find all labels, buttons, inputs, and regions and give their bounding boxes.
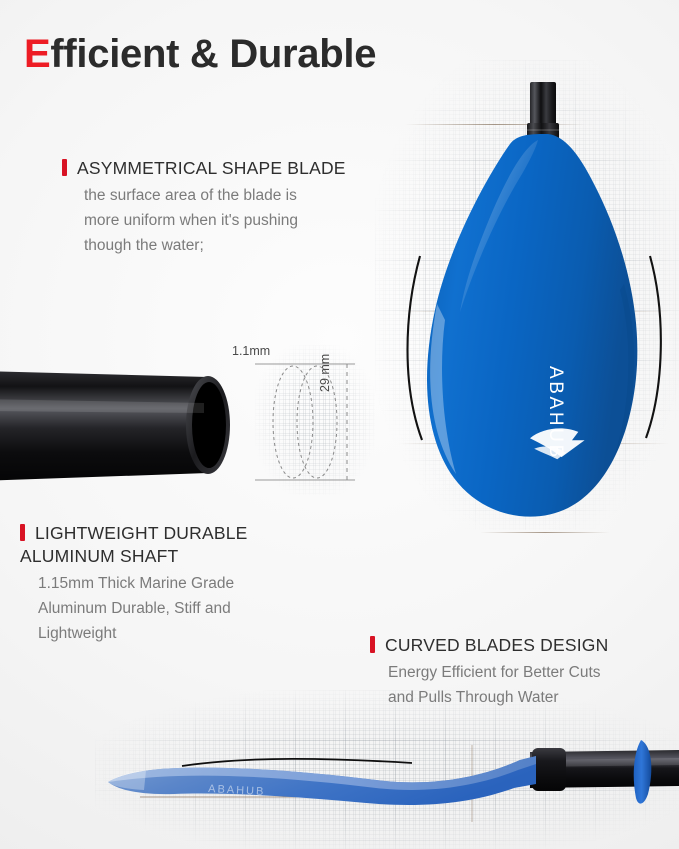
feature-asymmetrical-shape-blade: ASYMMETRICAL SHAPE BLADE the surface are… xyxy=(62,157,392,258)
feature-body: 1.15mm Thick Marine Grade Aluminum Durab… xyxy=(38,571,340,646)
aluminum-tube-illustration xyxy=(0,355,260,495)
red-bar-marker xyxy=(20,524,25,541)
drip-ring-fin xyxy=(634,740,652,804)
blade-body xyxy=(427,134,637,517)
feature-curved-blades-design: CURVED BLADES DESIGN Energy Efficient fo… xyxy=(370,634,670,710)
paddle-shaft-top xyxy=(530,82,556,128)
curvature-line-right xyxy=(646,256,661,438)
brand-wordmark-profile: ABAHUB xyxy=(208,783,266,798)
blade-curvature-arc xyxy=(182,759,412,766)
tube-cross-section-diagram xyxy=(255,352,365,492)
blade-shape-svg: ABAHUB xyxy=(398,134,668,534)
feature-heading: ASYMMETRICAL SHAPE BLADE xyxy=(62,157,392,180)
curvature-line-left xyxy=(408,256,423,440)
title-accent-letter: E xyxy=(24,32,50,76)
shaft-collar xyxy=(532,748,566,791)
dimension-tube-diameter: 29 mm xyxy=(318,354,332,392)
feature-lightweight-durable-aluminum-shaft: LIGHTWEIGHT DURABLE ALUMINUM SHAFT 1.15m… xyxy=(20,522,340,646)
tube-bore xyxy=(192,382,226,468)
title-rest: fficient & Durable xyxy=(50,32,376,76)
red-bar-marker xyxy=(370,636,375,653)
feature-body: the surface area of the blade is more un… xyxy=(84,183,392,258)
paddle-side-profile-illustration: ABAHUB xyxy=(100,700,679,849)
paddle-blade-illustration: ABAHUB xyxy=(398,82,668,537)
infographic-page: Efficient & Durable xyxy=(0,0,679,849)
cross-section-ellipse-inner xyxy=(273,366,313,478)
tube-body xyxy=(0,371,208,481)
blade-tip-highlight xyxy=(108,770,146,790)
feature-heading: CURVED BLADES DESIGN xyxy=(370,634,670,657)
feature-heading: LIGHTWEIGHT DURABLE ALUMINUM SHAFT xyxy=(20,522,340,568)
red-bar-marker xyxy=(62,159,67,176)
page-title: Efficient & Durable xyxy=(24,32,376,77)
dimension-wall-thickness: 1.1mm xyxy=(232,344,270,358)
